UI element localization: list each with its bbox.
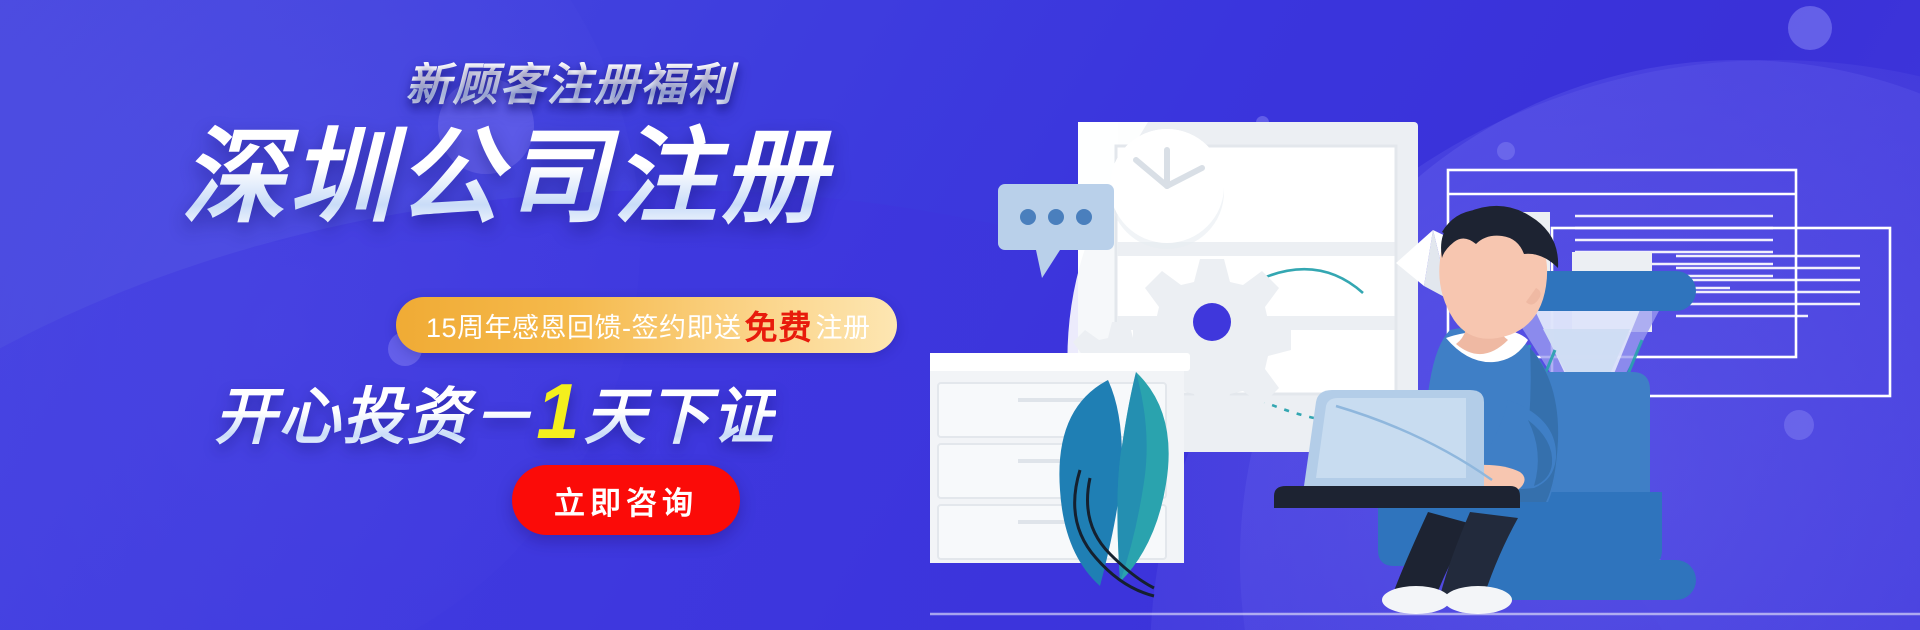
subline-number: 1 (536, 367, 581, 455)
promo-badge-suffix: 注册 (816, 306, 871, 345)
promo-badge-prefix: 15周年感恩回馈-签约即送 (426, 306, 742, 345)
subline-after: 天下证 (584, 383, 776, 452)
banner-subline: 开心投资－1天下证 (0, 372, 960, 450)
wall-clock-icon (1110, 129, 1224, 249)
promo-badge: 15周年感恩回馈-签约即送 免费 注册 (396, 297, 897, 353)
consult-now-button[interactable]: 立即咨询 (512, 465, 740, 535)
banner-copy: 新顾客注册福利 深圳公司注册 15周年感恩回馈-签约即送 免费 注册 开心投资－… (0, 0, 960, 630)
subline-before: 开心投资－ (214, 383, 534, 452)
banner-eyebrow: 新顾客注册福利 (0, 62, 960, 107)
hero-illustration (930, 0, 1920, 630)
page-title: 深圳公司注册 (0, 122, 960, 234)
promo-banner: 新顾客注册福利 深圳公司注册 15周年感恩回馈-签约即送 免费 注册 开心投资－… (0, 0, 1920, 630)
promo-badge-highlight: 免费 (745, 301, 813, 349)
